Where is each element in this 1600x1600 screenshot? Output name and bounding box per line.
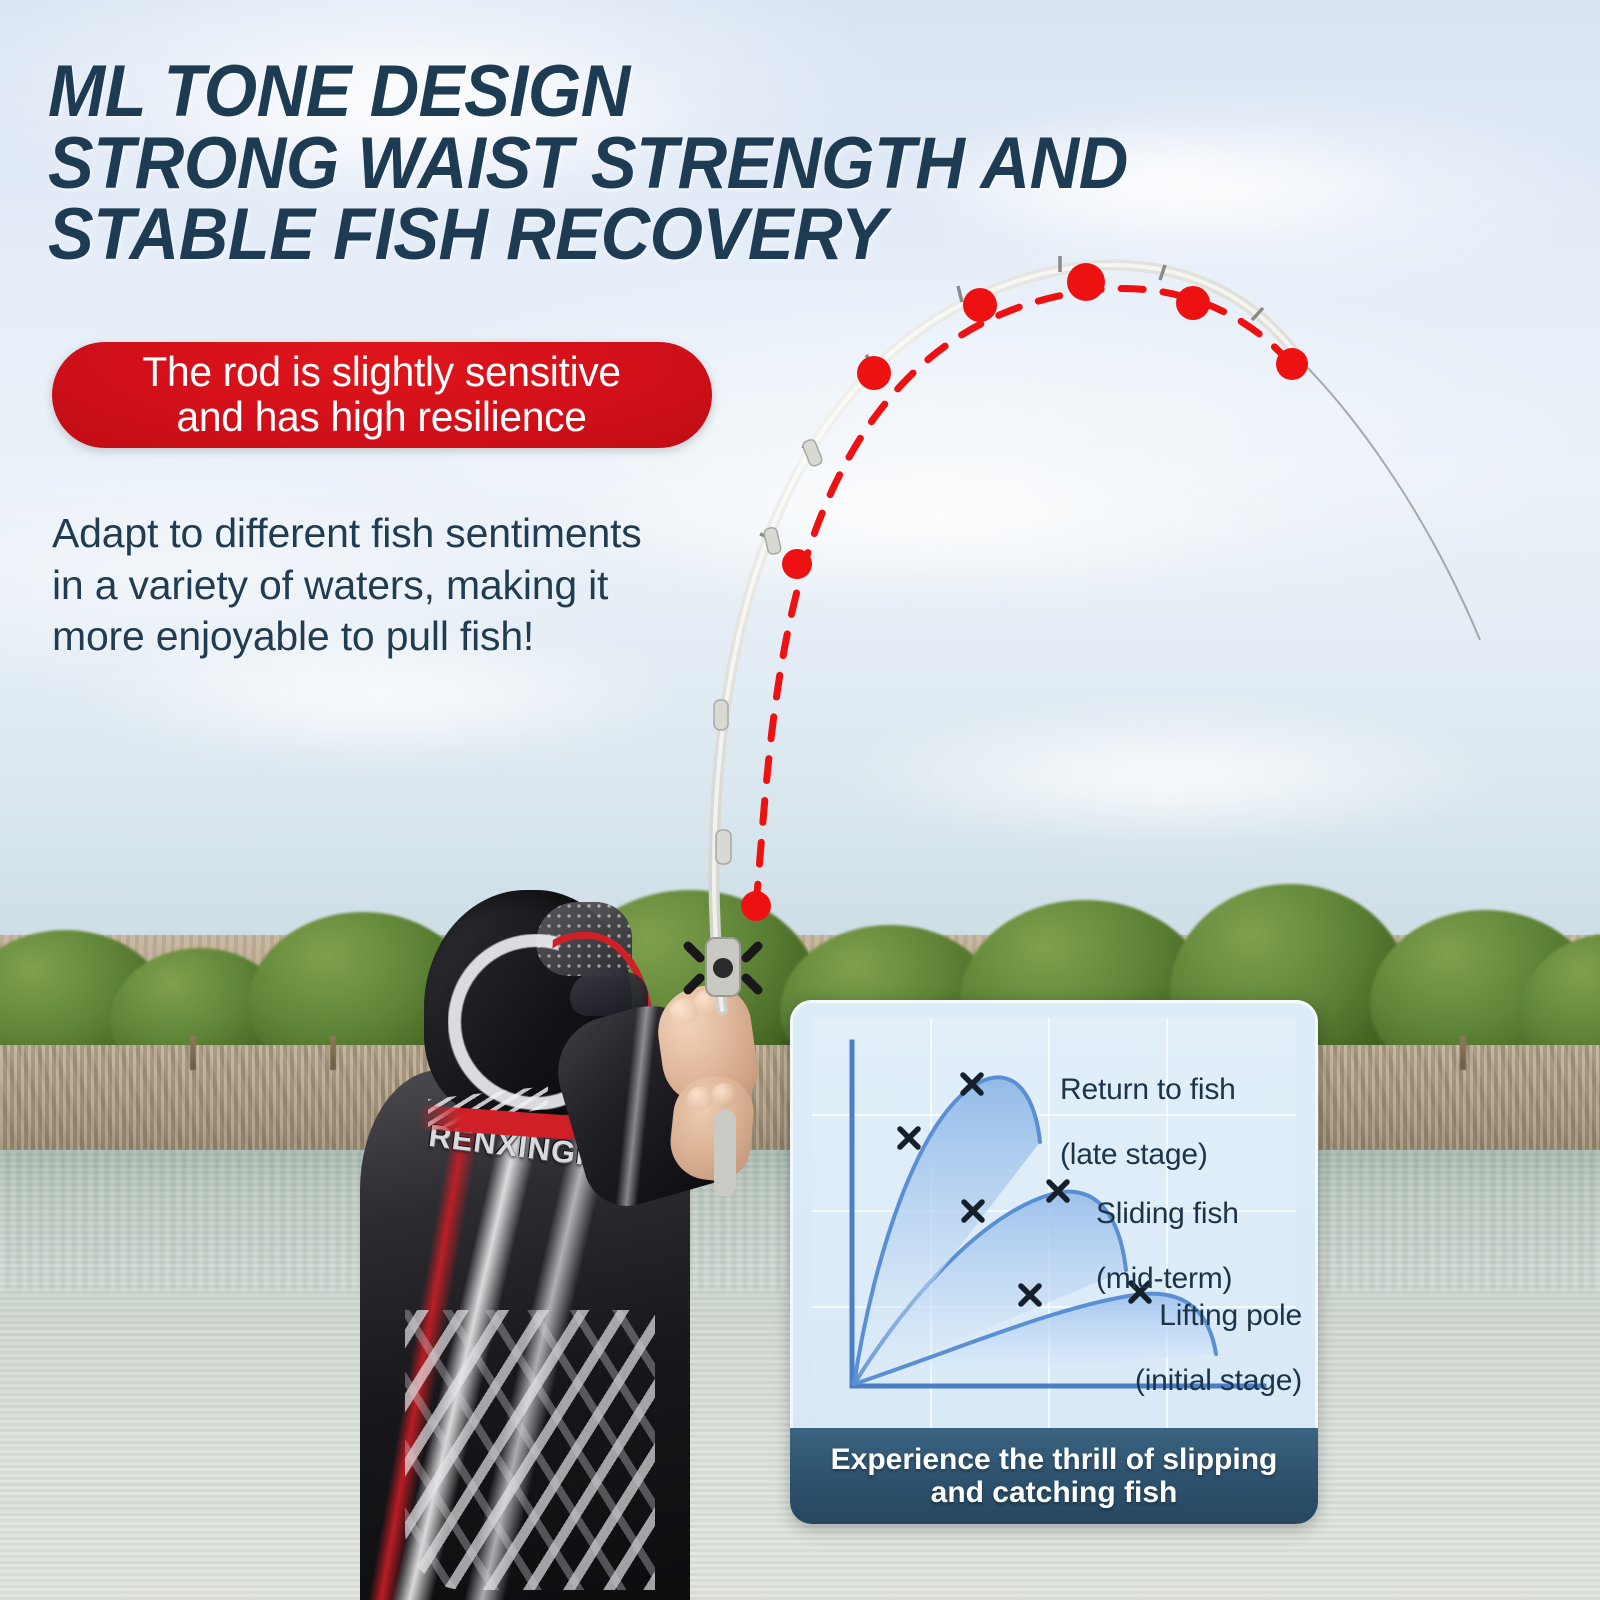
chart-plot-area: Return to fish (late stage) Sliding fish… [812, 1018, 1296, 1428]
chart-panel: Return to fish (late stage) Sliding fish… [790, 1000, 1318, 1524]
chart-label-line1: Lifting pole [1159, 1299, 1302, 1332]
chart-label-line1: Sliding fish [1096, 1197, 1239, 1230]
promo-banner: RENXINGPG [0, 0, 1600, 1600]
angler-figure: RENXINGPG [300, 880, 820, 1600]
chart-panel-footer-text: Experience the thrill of slipping and ca… [831, 1443, 1278, 1509]
body-paragraph: Adapt to different fish sentiments in a … [52, 508, 792, 663]
chart-label-return-to-fish: Return to fish (late stage) [1060, 1042, 1236, 1172]
chart-panel-footer: Experience the thrill of slipping and ca… [790, 1428, 1318, 1524]
status-badge: The rod is slightly sensitive and has hi… [52, 342, 712, 448]
chart-label-lifting-pole: Lifting pole (initial stage) [1082, 1268, 1302, 1398]
chart-label-line2: (initial stage) [1135, 1364, 1302, 1397]
cloud [820, 700, 1520, 850]
jacket-chevron-pattern [405, 1310, 655, 1590]
chart-label-line1: Return to fish [1060, 1073, 1236, 1106]
badge-label: The rod is slightly sensitive and has hi… [143, 350, 621, 439]
page-title: ML TONE DESIGN STRONG WAIST STRENGTH AND… [48, 56, 1289, 271]
